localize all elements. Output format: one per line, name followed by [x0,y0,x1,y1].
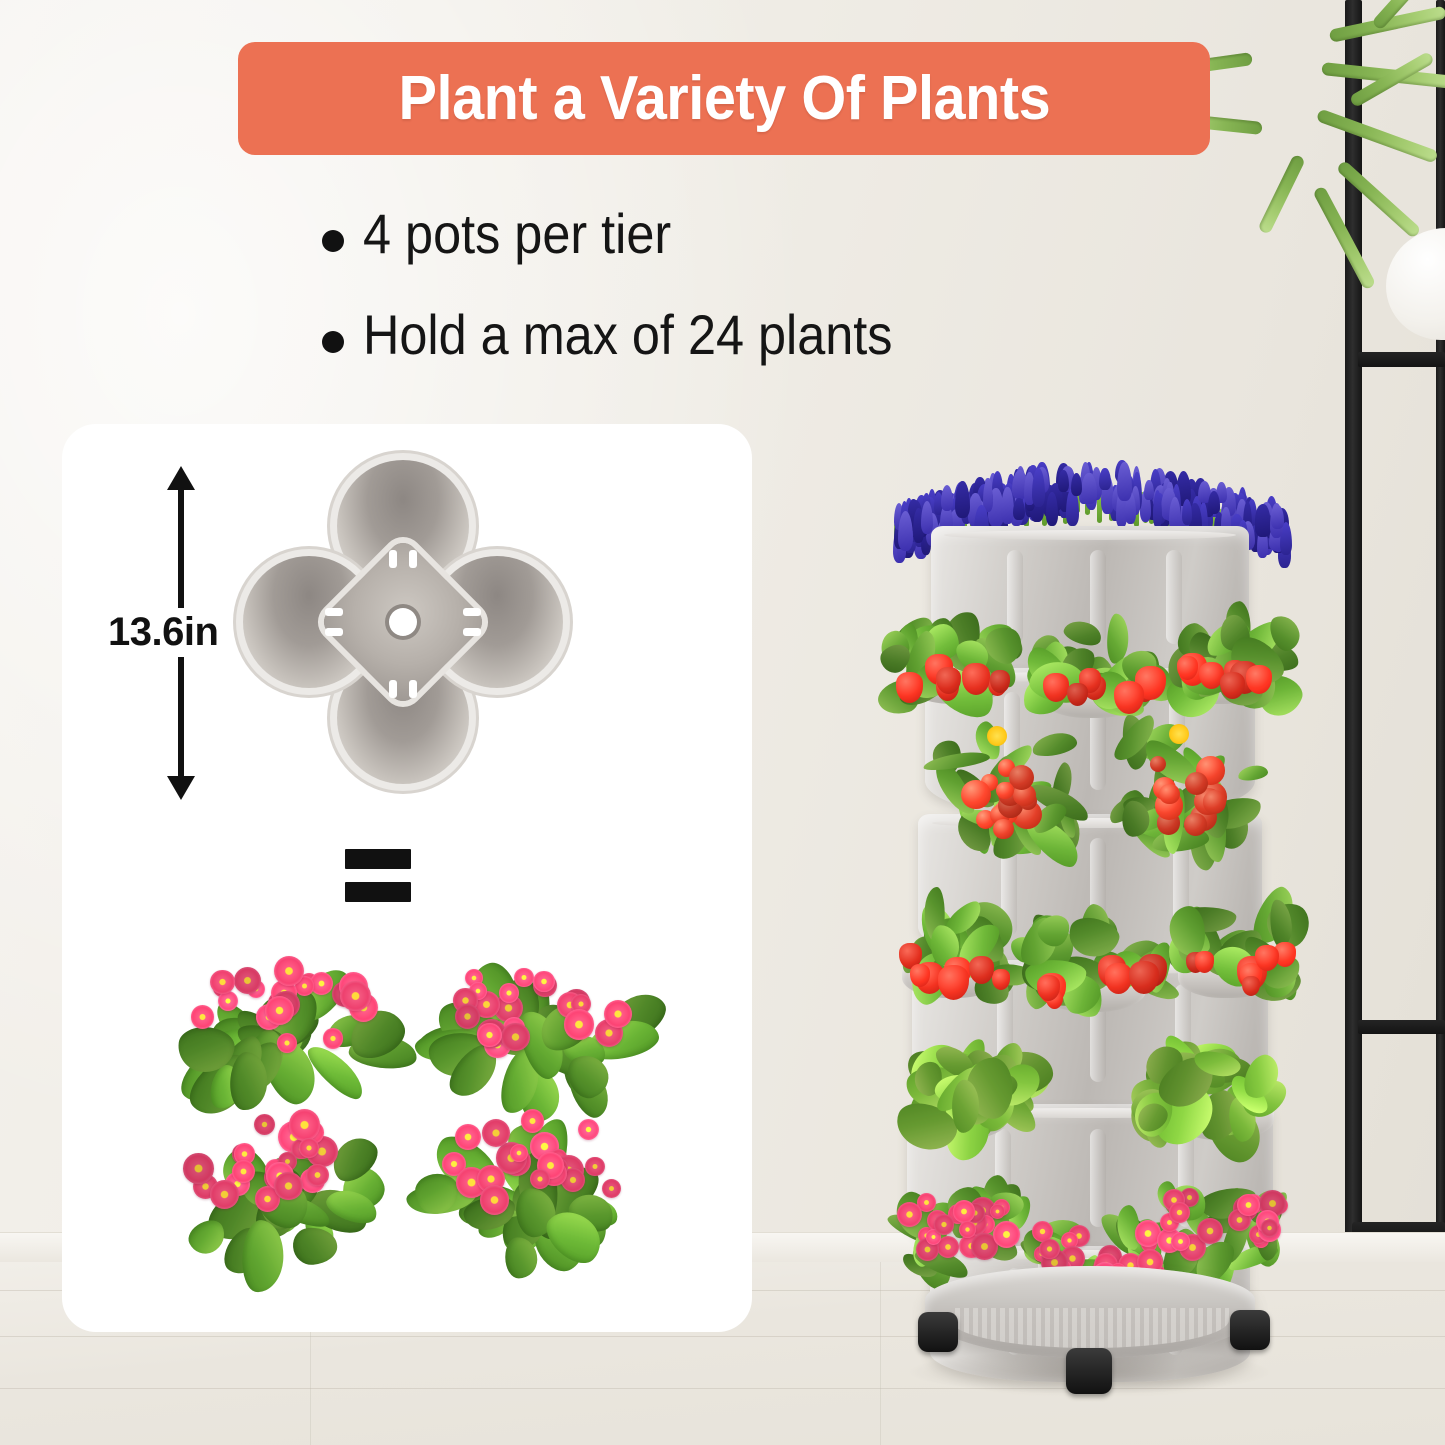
hyacinth-floret [1117,462,1132,501]
bullet-label: 4 pots per tier [363,203,671,266]
primrose-bloom [480,1185,509,1214]
primrose-bloom-tower [1197,1218,1223,1244]
base-ribbing [951,1308,1228,1348]
strawberry-fruit [990,670,1010,692]
tomato-cluster [922,724,1092,850]
primrose-cluster [417,1106,660,1256]
strawberry-fruit [992,969,1010,989]
dimension-label: 13.6in [108,608,238,657]
primrose-cluster-grid [160,946,660,1256]
hyacinth-floret [941,485,954,511]
pot-drain-slot [409,550,417,568]
lettuce-cluster [1124,1042,1284,1134]
hyacinth-floret [955,481,970,518]
primrose-bloom [602,1179,621,1198]
primrose-bloom [210,970,235,995]
primrose-bloom [578,1119,599,1140]
hyacinth-floret [1099,468,1111,490]
primrose-bloom-tower [1261,1219,1278,1236]
primrose-bloom [274,1172,303,1201]
primrose-bloom [232,1160,255,1183]
pot-drain-slot [325,628,343,636]
pot-top-view-graphic [243,458,563,786]
strawberry-fruit [938,965,969,1000]
primrose-bloom [477,1023,502,1048]
cherry-tomato-fruit [996,782,1014,800]
pot-drain-slot [463,608,481,616]
primrose-bloom [499,983,519,1003]
strawberry-cluster [1158,900,1310,998]
primrose-cluster [417,946,660,1096]
pot-drain-slot [325,608,343,616]
equals-bar-bottom [345,882,411,902]
caster-wheel [918,1312,958,1352]
strawberry-leaf [1061,617,1104,649]
primrose-bloom [210,1180,239,1209]
primrose-bloom [191,1005,215,1029]
primrose-bloom [521,1109,545,1133]
equals-sign-icon [345,849,411,911]
stand-post-left [1345,0,1362,1310]
title-banner: Plant a Variety Of Plants [238,42,1210,155]
tomato-blossom [987,726,1007,746]
primrose-bloom [501,1023,530,1052]
planter-tower [880,440,1300,1400]
pot-drain-slot [389,550,397,568]
primrose-bloom [564,1009,595,1040]
pot-drain-slot [409,680,417,698]
list-item: 4 pots per tier [322,203,1142,266]
primrose-bloom [234,967,261,994]
primrose-bloom-tower [1039,1239,1059,1259]
caster-wheel [1066,1348,1112,1394]
hyacinth-floret [1046,492,1058,526]
primrose-bloom [183,1153,213,1183]
bullet-dot-icon [322,331,344,353]
primrose-bloom [604,1000,632,1028]
hyacinth-floret [1182,499,1192,524]
primrose-cluster [160,946,403,1096]
pot-drain-hole-icon [389,608,417,636]
primrose-cluster-tower [886,1188,1036,1280]
strawberry-fruit [1067,683,1088,706]
page-title: Plant a Variety Of Plants [398,63,1050,134]
primrose-bloom-tower [934,1214,955,1235]
hyacinth-floret [1081,473,1096,503]
bullet-label: Hold a max of 24 plants [363,304,892,367]
primrose-bloom [306,1164,328,1186]
pot-drain-slot [463,628,481,636]
caster-wheel [1230,1310,1270,1350]
tomato-leaf [1237,764,1269,783]
hyacinth-floret [1071,473,1082,495]
primrose-bloom [289,1109,320,1140]
cherry-tomato-fruit [993,819,1014,840]
cherry-tomato-fruit [1185,772,1208,795]
pot-drain-slot [389,680,397,698]
hyacinth-floret [1255,504,1270,537]
primrose-bloom-tower [953,1200,975,1222]
primrose-bloom [323,1028,344,1049]
caster-base-tray [925,1266,1255,1358]
lettuce-cluster [894,1044,1054,1136]
strawberry-fruit [1105,963,1133,994]
primrose-bloom [533,971,554,992]
primrose-bloom [265,996,294,1025]
feature-bullet-list: 4 pots per tier Hold a max of 24 plants [322,203,1142,404]
cherry-tomato-fruit [1203,790,1226,813]
primrose-bloom [254,1114,275,1135]
primrose-bloom [340,981,370,1011]
stand-post-right [1436,0,1445,1300]
primrose-bloom [585,1157,604,1176]
bullet-dot-icon [322,230,344,252]
cherry-tomato-fruit [1159,784,1180,805]
stand-rail-mid [1358,1020,1445,1034]
strawberry-fruit [1114,681,1143,714]
strawberry-cluster [1154,608,1304,704]
primrose-bloom-tower [1171,1232,1190,1251]
equals-bar-top [345,849,411,869]
tomato-blossom [1169,724,1189,744]
arrow-head-down [167,776,195,800]
stand-rail-upper [1358,352,1445,367]
primrose-cluster [160,1106,403,1256]
primrose-bloom-tower [1169,1202,1190,1223]
primrose-cluster-tower [1148,1184,1298,1276]
tomato-cluster [1104,722,1274,848]
tomato-leaf [1031,730,1080,759]
hyacinth-floret [1058,470,1069,493]
primrose-bloom-tower [959,1221,976,1238]
hyacinth-floret [1144,480,1153,500]
primrose-bloom [514,968,534,988]
strawberry-fruit [1242,976,1260,996]
primrose-bloom [455,1124,481,1150]
cherry-tomato-fruit [961,780,990,809]
list-item: Hold a max of 24 plants [322,304,1142,367]
primrose-bloom-tower [1237,1194,1260,1217]
hyacinth-floret [1271,505,1284,529]
